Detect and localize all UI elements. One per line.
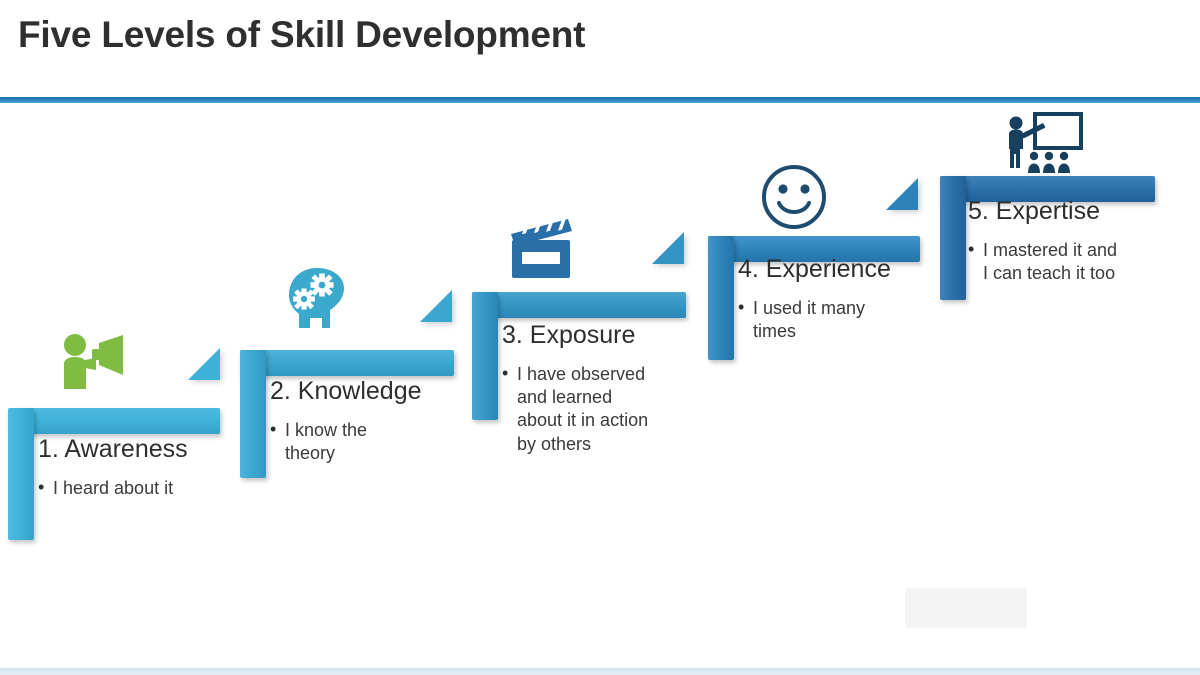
bullet-line-2: theory — [285, 443, 335, 463]
head-with-gears-icon — [286, 266, 348, 332]
step-heading: 2. Knowledge — [270, 378, 470, 406]
list-item: I know thetheory — [270, 419, 470, 466]
teacher-presentation-icon — [1003, 112, 1087, 174]
step-left-arm — [472, 292, 498, 420]
megaphone-person-icon — [55, 332, 131, 394]
step-heading: 4. Experience — [738, 256, 938, 284]
step-text-awareness: 1. Awareness I heard about it — [38, 436, 228, 500]
step-riser-wedge-exposure — [652, 232, 684, 264]
list-item: I mastered it andI can teach it too — [968, 239, 1178, 286]
watermark-block — [905, 588, 1027, 628]
step-text-experience: 4. Experience I used it manytimes — [738, 256, 938, 343]
clapperboard-icon — [508, 218, 580, 280]
step-left-arm — [708, 236, 734, 360]
step-text-knowledge: 2. Knowledge I know thetheory — [270, 378, 470, 465]
list-item: I heard about it — [38, 477, 228, 500]
bullet-line-1: I have observed — [517, 364, 645, 384]
list-item: I have observedand learnedabout it in ac… — [502, 363, 712, 457]
step-bullet-list: I heard about it — [38, 477, 228, 500]
list-item: I used it manytimes — [738, 297, 938, 344]
bullet-line-2: times — [753, 321, 796, 341]
bullet-line-1: I used it many — [753, 298, 865, 318]
bullet-line-3: about it in action — [517, 410, 648, 430]
step-riser-wedge-awareness — [188, 348, 220, 380]
step-left-arm — [240, 350, 266, 478]
step-heading: 3. Exposure — [502, 322, 712, 350]
step-bullet-list: I know thetheory — [270, 419, 470, 466]
bottom-divider — [0, 668, 1200, 675]
step-text-expertise: 5. Expertise I mastered it andI can teac… — [968, 198, 1178, 285]
slide-canvas: Five Levels of Skill Development 1. Awar… — [0, 0, 1200, 675]
page-title: Five Levels of Skill Development — [18, 14, 585, 56]
step-riser-wedge-knowledge — [420, 290, 452, 322]
step-heading: 5. Expertise — [968, 198, 1178, 226]
step-top-arm — [8, 408, 220, 434]
title-divider — [0, 97, 1200, 103]
step-bullet-list: I used it manytimes — [738, 297, 938, 344]
bullet-line-4: by others — [517, 434, 591, 454]
step-left-arm — [8, 408, 34, 540]
bullet-line-2: I can teach it too — [983, 263, 1115, 283]
step-heading: 1. Awareness — [38, 436, 228, 464]
step-text-exposure: 3. Exposure I have observedand learnedab… — [502, 322, 712, 456]
step-top-arm — [472, 292, 686, 318]
smiley-face-icon — [760, 163, 828, 231]
bullet-line-1: I mastered it and — [983, 240, 1117, 260]
step-riser-wedge-experience — [886, 178, 918, 210]
step-bullet-list: I have observedand learnedabout it in ac… — [502, 363, 712, 457]
step-bullet-list: I mastered it andI can teach it too — [968, 239, 1178, 286]
bullet-line-2: and learned — [517, 387, 612, 407]
bullet-line-1: I know the — [285, 420, 367, 440]
step-top-arm — [240, 350, 454, 376]
step-left-arm — [940, 176, 966, 300]
